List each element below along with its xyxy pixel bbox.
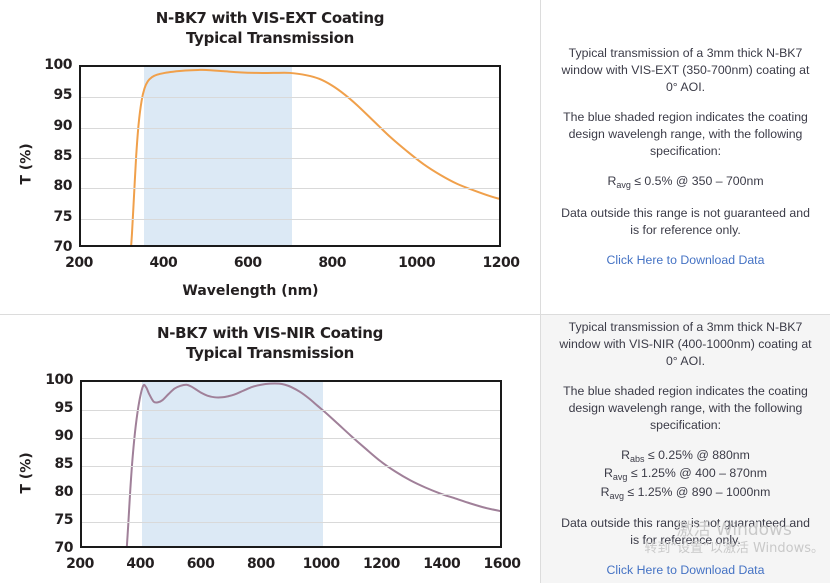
x-axis-tick-label: 1600 [484, 556, 521, 572]
vis-nir-y-axis-label: T (%) [19, 452, 35, 493]
y-axis-tick-label: 90 [54, 118, 72, 134]
vis-nir-chart-cell: N-BK7 with VIS-NIR Coating Typical Trans… [0, 315, 541, 583]
gridline [81, 219, 499, 220]
vis-nir-paragraph-1: Typical transmission of a 3mm thick N-BK… [559, 319, 812, 370]
vis-ext-title-line2: Typical Transmission [0, 28, 540, 48]
vis-nir-chart-title: N-BK7 with VIS-NIR Coating Typical Trans… [0, 315, 540, 363]
x-axis-tick-label: 1400 [423, 556, 460, 572]
vis-ext-plot-frame [79, 65, 501, 247]
y-axis-tick-label: 75 [55, 512, 73, 528]
vis-ext-x-axis-label: Wavelength (nm) [0, 283, 501, 299]
gridline [81, 188, 499, 189]
vis-ext-paragraph-1: Typical transmission of a 3mm thick N-BK… [559, 45, 812, 96]
gridline [82, 466, 500, 467]
y-axis-tick-label: 100 [44, 57, 72, 73]
vis-nir-plot-area: T (%) 7075808590951002004006008001000120… [0, 362, 541, 583]
spec-line: Ravg ≤ 1.25% @ 400 – 870nm [559, 465, 812, 484]
y-axis-tick-label: 75 [54, 209, 72, 225]
x-axis-tick-label: 200 [65, 255, 93, 271]
spec-line: Ravg ≤ 1.25% @ 890 – 1000nm [559, 484, 812, 503]
y-axis-tick-label: 85 [55, 456, 73, 472]
vis-ext-section: N-BK7 with VIS-EXT Coating Typical Trans… [0, 0, 830, 314]
y-axis-tick-label: 100 [45, 372, 73, 388]
gridline [81, 97, 499, 98]
y-axis-tick-label: 95 [55, 400, 73, 416]
vis-ext-plot-area: T (%) Wavelength (nm) 707580859095100200… [0, 46, 541, 307]
gridline [81, 128, 499, 129]
vis-nir-paragraph-2: The blue shaded region indicates the coa… [559, 383, 812, 434]
x-axis-tick-label: 600 [187, 556, 215, 572]
x-axis-tick-label: 1200 [483, 255, 520, 271]
vis-ext-paragraph-3: Data outside this range is not guarantee… [559, 205, 812, 239]
vis-ext-paragraph-2: The blue shaded region indicates the coa… [559, 109, 812, 160]
vis-nir-description-panel: Typical transmission of a 3mm thick N-BK… [541, 315, 830, 583]
vis-ext-specifications: Ravg ≤ 0.5% @ 350 – 700nm [559, 173, 812, 192]
x-axis-tick-label: 800 [247, 556, 275, 572]
x-axis-tick-label: 800 [318, 255, 346, 271]
spec-line: Ravg ≤ 0.5% @ 350 – 700nm [559, 173, 812, 192]
x-axis-tick-label: 1200 [363, 556, 400, 572]
vis-ext-description-panel: Typical transmission of a 3mm thick N-BK… [541, 0, 830, 314]
x-axis-tick-label: 200 [66, 556, 94, 572]
y-axis-tick-label: 70 [54, 239, 72, 255]
vis-nir-section: N-BK7 with VIS-NIR Coating Typical Trans… [0, 314, 830, 583]
gridline [82, 494, 500, 495]
x-axis-tick-label: 1000 [303, 556, 340, 572]
vis-ext-chart-title: N-BK7 with VIS-EXT Coating Typical Trans… [0, 0, 540, 48]
vis-ext-y-axis-label: T (%) [19, 143, 35, 184]
vis-nir-download-link[interactable]: Click Here to Download Data [559, 562, 812, 579]
vis-nir-title-line1: N-BK7 with VIS-NIR Coating [0, 323, 540, 343]
x-axis-tick-label: 1000 [398, 255, 435, 271]
vis-nir-paragraph-3: Data outside this range is not guarantee… [559, 515, 812, 549]
vis-nir-specifications: Rabs ≤ 0.25% @ 880nmRavg ≤ 1.25% @ 400 –… [559, 447, 812, 503]
vis-nir-plot-frame [80, 380, 502, 548]
transmission-charts-page: N-BK7 with VIS-EXT Coating Typical Trans… [0, 0, 830, 583]
gridline [81, 158, 499, 159]
gridline [82, 410, 500, 411]
gridline [82, 522, 500, 523]
y-axis-tick-label: 95 [54, 87, 72, 103]
gridline [82, 438, 500, 439]
x-axis-tick-label: 400 [150, 255, 178, 271]
vis-ext-chart-cell: N-BK7 with VIS-EXT Coating Typical Trans… [0, 0, 541, 314]
x-axis-tick-label: 600 [234, 255, 262, 271]
vis-nir-title-line2: Typical Transmission [0, 343, 540, 363]
vis-ext-title-line1: N-BK7 with VIS-EXT Coating [0, 8, 540, 28]
vis-ext-download-link[interactable]: Click Here to Download Data [559, 252, 812, 269]
x-axis-tick-label: 400 [126, 556, 154, 572]
spec-line: Rabs ≤ 0.25% @ 880nm [559, 447, 812, 466]
y-axis-tick-label: 80 [54, 178, 72, 194]
y-axis-tick-label: 90 [55, 428, 73, 444]
y-axis-tick-label: 85 [54, 148, 72, 164]
y-axis-tick-label: 80 [55, 484, 73, 500]
y-axis-tick-label: 70 [55, 540, 73, 556]
